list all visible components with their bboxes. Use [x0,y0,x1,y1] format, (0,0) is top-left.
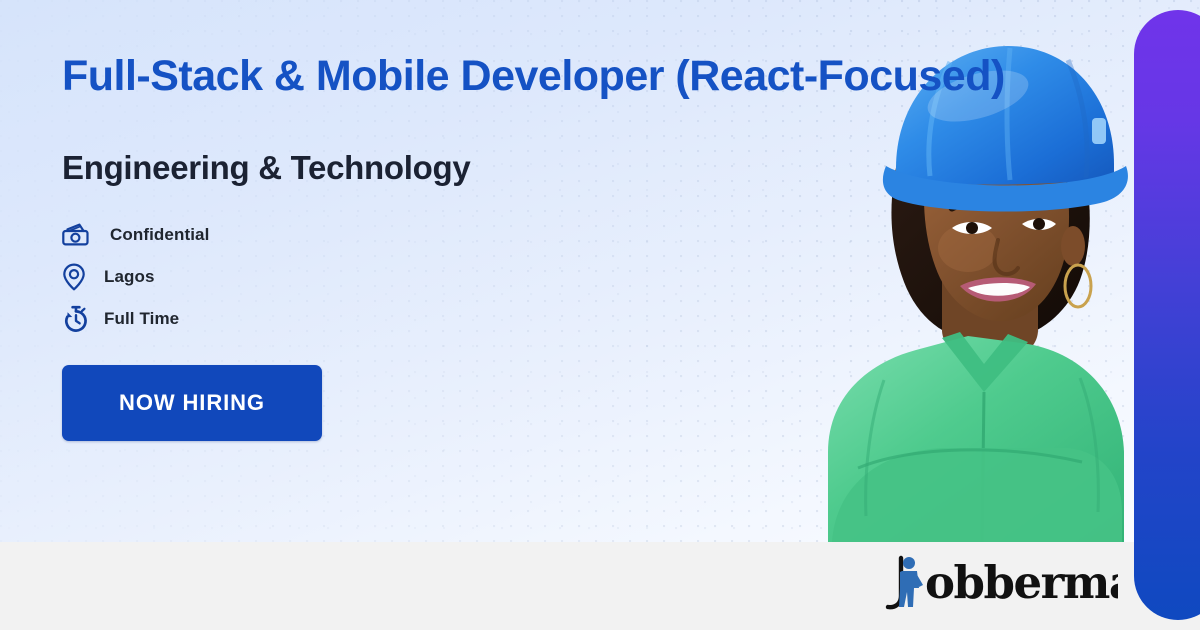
job-detail-location-label: Lagos [104,267,155,287]
worker-photo-alt: Smiling woman wearing a blue hard hat an… [792,0,793,1]
banner-card: Smiling woman wearing a blue hard hat an… [0,0,1200,542]
location-pin-icon [62,262,98,292]
gradient-side-bar [1134,10,1200,620]
svg-text:obberman: obberman [925,556,1118,609]
job-detail-salary: Confidential [62,220,1122,250]
job-detail-employment-type-label: Full Time [104,309,179,329]
job-details-list: Confidential Lagos [62,220,1122,334]
job-title: Full-Stack & Mobile Developer (React-Foc… [62,52,1122,100]
banner-footer: Jobberman obberman [0,542,1200,630]
job-detail-salary-label: Confidential [110,225,209,245]
now-hiring-button[interactable]: NOW HIRING [62,365,322,441]
jobberman-logo[interactable]: Jobberman obberman [878,552,1118,614]
job-posting-banner: Smiling woman wearing a blue hard hat an… [0,0,1200,630]
stopwatch-icon [62,304,98,334]
job-category: Engineering & Technology [62,149,1122,187]
job-detail-location: Lagos [62,262,1122,292]
job-detail-employment-type: Full Time [62,304,1122,334]
banner-content: Full-Stack & Mobile Developer (React-Foc… [62,52,1122,441]
money-icon [62,220,98,250]
